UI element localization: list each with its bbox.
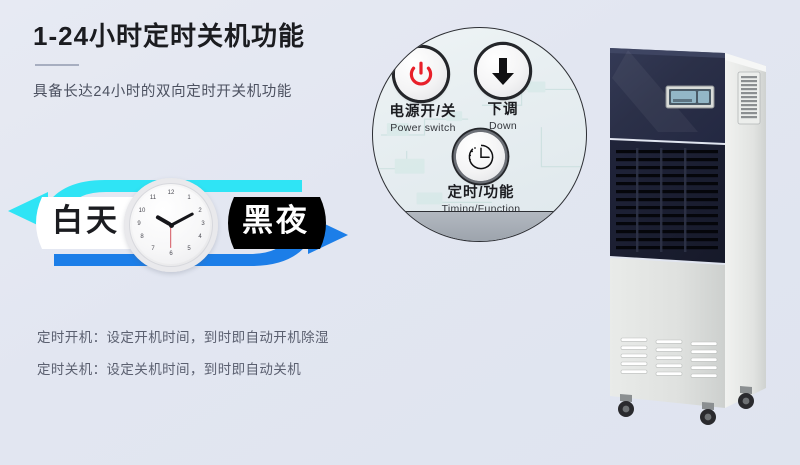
clock-numeral: 11: [148, 195, 158, 201]
page-title: 1-24小时定时关机功能: [33, 22, 393, 51]
clock-numeral: 7: [148, 246, 158, 252]
headline-block: 1-24小时定时关机功能 具备长达24小时的双向定时开关机功能: [33, 22, 393, 101]
panel-base-band: [372, 211, 587, 242]
product-image-dehumidifier: [598, 28, 788, 440]
list-item: 定时开机：设定开机时间，到时即自动开机除湿: [37, 330, 397, 346]
clock-numeral: 6: [166, 251, 176, 257]
analog-clock: 12 1 2 3 4 5 6 7 8 9 10 11: [124, 178, 218, 272]
caption-en: Down: [467, 120, 539, 132]
clock-numeral: 3: [198, 221, 208, 227]
clock-numeral: 8: [137, 234, 147, 240]
clock-numeral: 12: [166, 190, 176, 196]
caption-cn: 定时/功能: [428, 185, 534, 202]
clock-numeral: 9: [134, 221, 144, 227]
clock-numeral: 2: [195, 208, 205, 214]
down-adjust-caption: 下调 Down: [467, 102, 539, 132]
clock-numeral: 4: [195, 234, 205, 240]
clock-numeral: 10: [137, 208, 147, 214]
down-adjust-button[interactable]: [477, 45, 529, 97]
control-panel-closeup: 电源开/关 Power switch 下调 Down 定时/功能 Timing/…: [372, 27, 587, 242]
list-item: 定时关机：设定关机时间，到时即自动关机: [37, 362, 397, 378]
caption-en: Power switch: [372, 122, 479, 134]
clock-numeral: 1: [184, 195, 194, 201]
clock-icon: [466, 142, 496, 172]
day-label: 白天: [52, 205, 120, 236]
feature-bullet-list: 定时开机：设定开机时间，到时即自动开机除湿 定时关机：设定关机时间，到时即自动关…: [37, 330, 397, 393]
promo-banner: 1-24小时定时关机功能 具备长达24小时的双向定时开关机功能 白天 黑夜 12…: [0, 0, 800, 465]
product-grille: [610, 140, 725, 263]
product-side-vent: [738, 72, 760, 124]
power-switch-caption: 电源开/关 Power switch: [372, 104, 479, 134]
power-icon: [407, 60, 435, 88]
night-label: 黑夜: [242, 205, 310, 236]
timing-function-button[interactable]: [456, 132, 505, 181]
clock-center-pivot: [169, 223, 174, 228]
power-switch-button[interactable]: [395, 48, 447, 100]
product-lower-body: [610, 258, 725, 408]
down-arrow-icon: [489, 56, 517, 86]
product-lcd-display: [666, 86, 714, 108]
page-subtitle: 具备长达24小时的双向定时开关机功能: [33, 80, 393, 101]
title-divider: [35, 64, 79, 66]
caption-cn: 电源开/关: [372, 104, 479, 121]
clock-numeral: 5: [184, 246, 194, 252]
caption-cn: 下调: [467, 102, 539, 119]
